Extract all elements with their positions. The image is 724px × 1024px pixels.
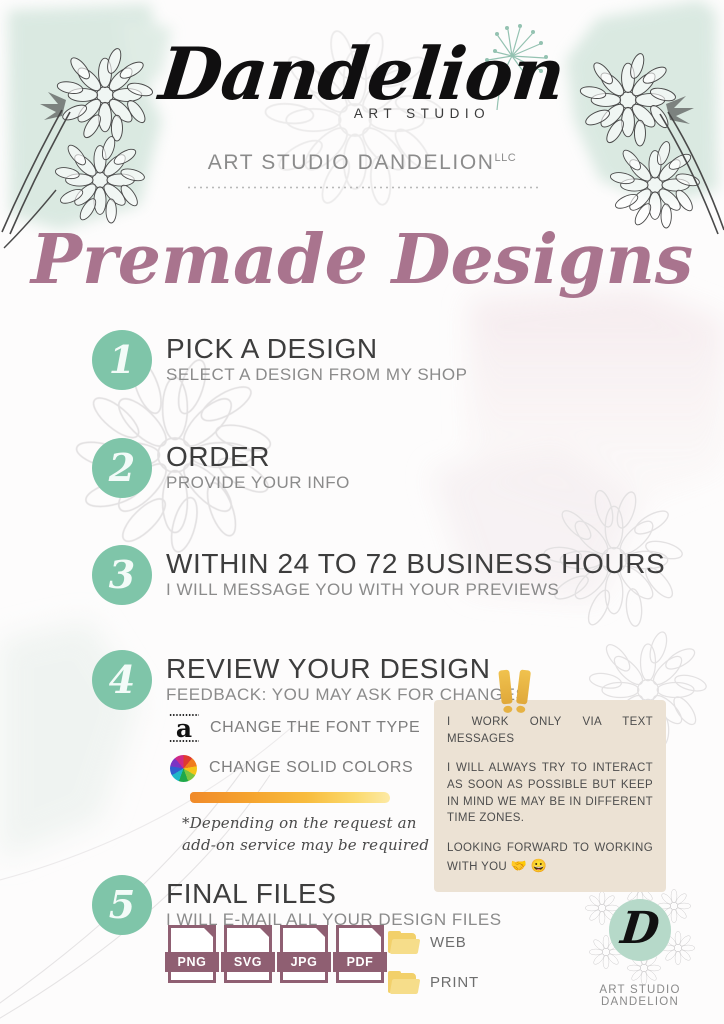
addon-disclaimer-line2: add-on service may be required xyxy=(182,835,430,857)
option-font: a CHANGE THE FONT TYPE xyxy=(170,712,430,744)
file-icon-pdf: PDF xyxy=(336,925,384,983)
revision-options: a CHANGE THE FONT TYPE CHANGE SOLID COLO… xyxy=(170,712,430,857)
step-number-badge: 4 xyxy=(92,650,152,710)
alpha-font-icon: a xyxy=(170,714,198,742)
option-color-label: CHANGE SOLID COLORS xyxy=(209,759,413,777)
step-title: PICK A DESIGN xyxy=(166,334,468,363)
addon-disclaimer-line1: *Depending on the request an xyxy=(182,813,430,835)
file-formats-list: PNG SVG JPG PDF xyxy=(168,925,384,983)
addon-disclaimer: *Depending on the request an add-on serv… xyxy=(182,813,430,857)
step-number-badge: 2 xyxy=(92,438,152,498)
footer-logo: D ART STUDIO DANDELION xyxy=(566,880,714,1008)
folder-icon xyxy=(388,971,418,994)
file-format-label: PDF xyxy=(333,952,387,972)
footer-monogram: D xyxy=(619,907,662,951)
file-corner-fold xyxy=(257,925,272,940)
folder-label: PRINT xyxy=(430,974,479,991)
brand-header: Dandelion ART STUDIO ART STUDIO DANDELIO… xyxy=(0,0,724,189)
file-icon-jpg: JPG xyxy=(280,925,328,983)
info-note-wrapper: I WORK ONLY VIA TEXT MESSAGES I WILL ALW… xyxy=(434,700,666,892)
file-icon-svg: SVG xyxy=(224,925,272,983)
step-subtitle: SELECT A DESIGN FROM MY SHOP xyxy=(166,365,468,385)
folder-item-web: WEB xyxy=(388,925,479,959)
info-line-3: LOOKING FORWARD TO WORKING WITH YOU 🤝 😀 xyxy=(447,840,653,876)
step-title: WITHIN 24 TO 72 BUSINESS HOURS xyxy=(166,549,665,578)
page-title: Premade Designs xyxy=(0,226,724,294)
folder-item-print: PRINT xyxy=(388,965,479,999)
step-number-badge: 5 xyxy=(92,875,152,935)
step-item-2: 2 ORDER PROVIDE YOUR INFO xyxy=(0,438,724,493)
poster-canvas: Dandelion ART STUDIO ART STUDIO DANDELIO… xyxy=(0,0,724,1024)
exclamation-mark-left xyxy=(498,670,512,705)
delivery-folders-list: WEB PRINT xyxy=(388,925,479,1005)
legal-suffix: LLC xyxy=(495,152,517,164)
file-corner-fold xyxy=(313,925,328,940)
step-item-4: 4 REVIEW YOUR DESIGN FEEDBACK: YOU MAY A… xyxy=(0,650,724,705)
file-format-label: JPG xyxy=(277,952,331,972)
dotted-divider xyxy=(186,186,538,189)
file-icon-png: PNG xyxy=(168,925,216,983)
color-wheel-icon xyxy=(170,755,197,782)
brush-stroke-accent xyxy=(190,792,390,803)
step-number-badge: 3 xyxy=(92,545,152,605)
step-number-badge: 1 xyxy=(92,330,152,390)
step-subtitle: I WILL MESSAGE YOU WITH YOUR PREVIEWS xyxy=(166,580,665,600)
exclamation-mark-right xyxy=(516,669,531,704)
step-item-3: 3 WITHIN 24 TO 72 BUSINESS HOURS I WILL … xyxy=(0,545,724,600)
file-format-label: PNG xyxy=(165,952,219,972)
file-corner-fold xyxy=(201,925,216,940)
step-title: REVIEW YOUR DESIGN xyxy=(166,654,527,683)
step-title: ORDER xyxy=(166,442,350,471)
folder-icon xyxy=(388,931,418,954)
footer-logo-mark: D xyxy=(585,880,695,980)
legal-name-text: ART STUDIO DANDELION xyxy=(208,151,495,174)
option-color: CHANGE SOLID COLORS xyxy=(170,752,430,784)
info-note-box: I WORK ONLY VIA TEXT MESSAGES I WILL ALW… xyxy=(434,700,666,892)
info-line-1: I WORK ONLY VIA TEXT MESSAGES xyxy=(447,714,653,747)
step-item-1: 1 PICK A DESIGN SELECT A DESIGN FROM MY … xyxy=(0,330,724,385)
brand-wordmark: Dandelion xyxy=(156,38,567,110)
info-line-2: I WILL ALWAYS TRY TO INTERACT AS SOON AS… xyxy=(447,760,653,827)
file-corner-fold xyxy=(369,925,384,940)
step-subtitle: PROVIDE YOUR INFO xyxy=(166,473,350,493)
folder-label: WEB xyxy=(430,934,467,951)
file-format-label: SVG xyxy=(221,952,275,972)
option-font-label: CHANGE THE FONT TYPE xyxy=(210,719,420,737)
footer-logo-caption: ART STUDIO DANDELION xyxy=(566,984,714,1008)
info-line-3-text: LOOKING FORWARD TO WORKING WITH YOU xyxy=(447,842,653,873)
folder-front-shape xyxy=(390,939,421,954)
exclamation-icon xyxy=(500,670,529,704)
folder-front-shape xyxy=(390,979,421,994)
handshake-smile-emoji: 🤝 😀 xyxy=(511,858,547,873)
legal-name: ART STUDIO DANDELIONLLC xyxy=(0,151,724,175)
